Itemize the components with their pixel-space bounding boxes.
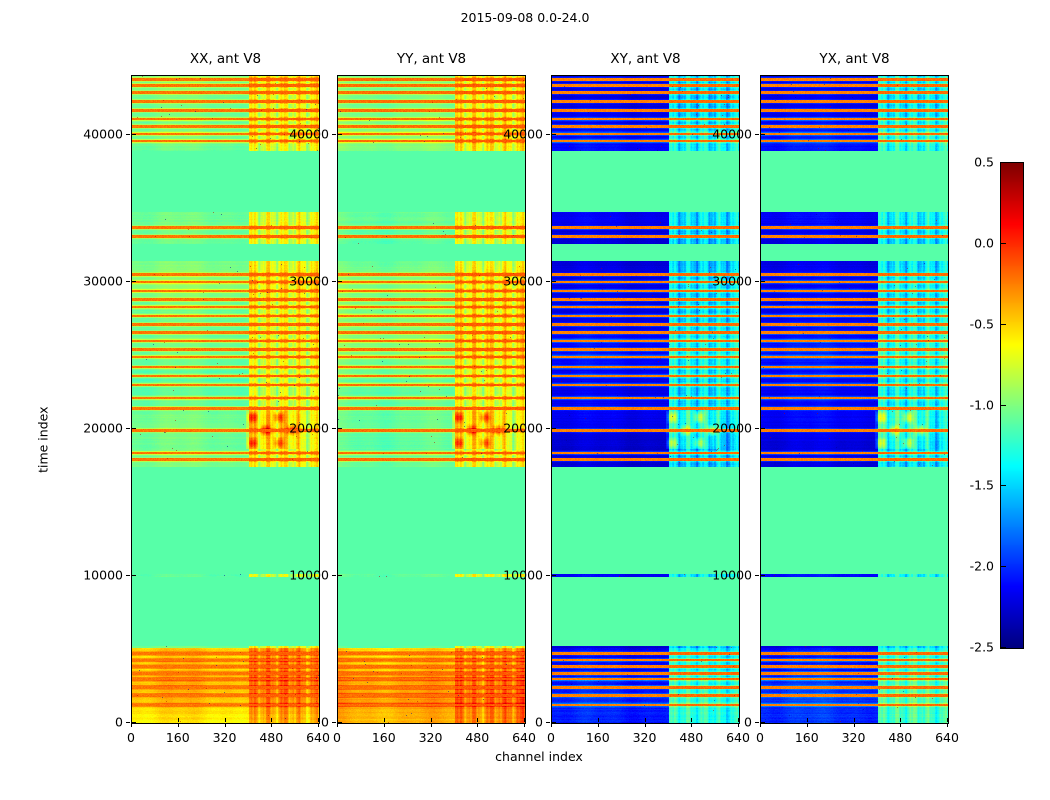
- colorbar-tick-label: -1.0: [952, 397, 994, 412]
- y-tick-label: 10000: [698, 567, 752, 582]
- y-tick-label: 0: [489, 715, 543, 730]
- colorbar-tickmark: [1001, 405, 1006, 406]
- y-tickmark-inner: [132, 575, 136, 576]
- x-axis-label: channel index: [495, 749, 583, 764]
- y-tickmark-inner: [761, 722, 765, 723]
- x-tickmark: [225, 723, 226, 727]
- colorbar-tick-label: -1.5: [952, 478, 994, 493]
- x-tickmark: [645, 723, 646, 727]
- y-tickmark-inner: [132, 281, 136, 282]
- x-tickmark-inner: [900, 718, 901, 722]
- y-tick-label: 20000: [489, 420, 543, 435]
- colorbar-tickmark: [1001, 647, 1006, 648]
- y-tick-label: 20000: [698, 420, 752, 435]
- colorbar-tickmark: [1001, 485, 1006, 486]
- x-tick-label: 320: [633, 730, 657, 745]
- x-tickmark: [271, 723, 272, 727]
- y-tickmark-inner: [132, 134, 136, 135]
- y-tick-label: 40000: [489, 126, 543, 141]
- x-tickmark-inner: [431, 718, 432, 722]
- y-tickmark-inner: [338, 428, 342, 429]
- x-tick-label: 320: [842, 730, 866, 745]
- x-tickmark: [384, 723, 385, 727]
- y-tickmark: [126, 281, 130, 282]
- y-tickmark: [126, 428, 130, 429]
- waterfall-image-yy: [338, 76, 525, 723]
- x-tick-label: 480: [888, 730, 912, 745]
- y-tickmark: [546, 281, 550, 282]
- y-tickmark: [332, 575, 336, 576]
- y-tickmark: [755, 134, 759, 135]
- x-tick-label: 160: [372, 730, 396, 745]
- y-tickmark-inner: [761, 575, 765, 576]
- y-tickmark: [755, 575, 759, 576]
- x-tickmark: [807, 723, 808, 727]
- y-tick-label: 10000: [275, 567, 329, 582]
- y-tickmark-inner: [552, 722, 556, 723]
- heatmap-panel-yx: YX, ant V8: [760, 75, 949, 724]
- y-tick-label: 40000: [275, 126, 329, 141]
- x-tick-label: 0: [547, 730, 555, 745]
- y-tick-label: 0: [698, 715, 752, 730]
- x-tick-label: 640: [306, 730, 330, 745]
- x-tick-label: 160: [795, 730, 819, 745]
- figure-suptitle: 2015-09-08 0.0-24.0: [0, 10, 1050, 25]
- x-tickmark-inner: [225, 718, 226, 722]
- colorbar-tickmark: [1001, 243, 1006, 244]
- colorbar-tick-label: -2.5: [952, 640, 994, 655]
- y-tick-label: 0: [69, 715, 123, 730]
- waterfall-image-xy: [552, 76, 739, 723]
- x-tick-label: 480: [679, 730, 703, 745]
- y-tick-label: 40000: [698, 126, 752, 141]
- y-tickmark-inner: [338, 134, 342, 135]
- y-tickmark: [332, 134, 336, 135]
- y-tick-label: 10000: [69, 567, 123, 582]
- x-tickmark-inner: [645, 718, 646, 722]
- x-tickmark: [760, 723, 761, 727]
- colorbar-tick-label: -2.0: [952, 559, 994, 574]
- panel-title-yx: YX, ant V8: [761, 51, 948, 67]
- x-tickmark: [551, 723, 552, 727]
- y-tick-label: 20000: [69, 420, 123, 435]
- y-tick-label: 30000: [698, 273, 752, 288]
- x-tickmark: [854, 723, 855, 727]
- y-tickmark: [126, 134, 130, 135]
- x-tick-label: 160: [166, 730, 190, 745]
- x-tickmark-inner: [947, 718, 948, 722]
- y-tickmark: [546, 575, 550, 576]
- y-tick-label: 10000: [489, 567, 543, 582]
- x-tickmark-inner: [598, 718, 599, 722]
- y-tickmark: [332, 428, 336, 429]
- y-tickmark: [546, 722, 550, 723]
- x-tick-label: 480: [465, 730, 489, 745]
- colorbar-gradient: [1001, 163, 1023, 648]
- y-tickmark-inner: [761, 134, 765, 135]
- y-tickmark-inner: [761, 428, 765, 429]
- colorbar-tickmark: [1001, 162, 1006, 163]
- y-tickmark-inner: [552, 281, 556, 282]
- panel-title-yy: YY, ant V8: [338, 51, 525, 67]
- x-tick-label: 0: [127, 730, 135, 745]
- colorbar-tickmark: [1001, 324, 1006, 325]
- y-tick-label: 20000: [275, 420, 329, 435]
- colorbar-tick-label: 0.0: [952, 235, 994, 250]
- y-tickmark-inner: [338, 575, 342, 576]
- x-tickmark: [598, 723, 599, 727]
- y-tick-label: 0: [275, 715, 329, 730]
- y-tickmark: [546, 134, 550, 135]
- colorbar: [1000, 162, 1024, 649]
- x-tickmark-inner: [178, 718, 179, 722]
- waterfall-image-xx: [132, 76, 319, 723]
- x-tick-label: 320: [213, 730, 237, 745]
- x-tickmark: [178, 723, 179, 727]
- y-tickmark: [126, 575, 130, 576]
- x-tickmark: [900, 723, 901, 727]
- x-tickmark: [477, 723, 478, 727]
- x-tickmark-inner: [807, 718, 808, 722]
- y-tickmark: [755, 281, 759, 282]
- y-tickmark-inner: [761, 281, 765, 282]
- colorbar-tickmark: [1001, 566, 1006, 567]
- x-tickmark-inner: [691, 718, 692, 722]
- x-tickmark-inner: [271, 718, 272, 722]
- x-tickmark-inner: [477, 718, 478, 722]
- panel-title-xy: XY, ant V8: [552, 51, 739, 67]
- x-tick-label: 640: [726, 730, 750, 745]
- x-tickmark: [431, 723, 432, 727]
- x-tick-label: 0: [756, 730, 764, 745]
- x-tickmark-inner: [854, 718, 855, 722]
- y-tickmark-inner: [338, 722, 342, 723]
- y-tickmark-inner: [132, 428, 136, 429]
- y-tickmark-inner: [338, 281, 342, 282]
- y-tick-label: 30000: [69, 273, 123, 288]
- x-tick-label: 0: [333, 730, 341, 745]
- x-tick-label: 640: [512, 730, 536, 745]
- heatmap-panel-xx: XX, ant V8: [131, 75, 320, 724]
- x-tick-label: 160: [586, 730, 610, 745]
- y-tick-label: 30000: [275, 273, 329, 288]
- colorbar-tick-label: -0.5: [952, 316, 994, 331]
- y-tickmark: [332, 281, 336, 282]
- panel-title-xx: XX, ant V8: [132, 51, 319, 67]
- x-tickmark: [947, 723, 948, 727]
- y-tick-label: 30000: [489, 273, 543, 288]
- y-tickmark-inner: [552, 575, 556, 576]
- x-tickmark: [337, 723, 338, 727]
- waterfall-image-yx: [761, 76, 948, 723]
- y-tickmark-inner: [552, 134, 556, 135]
- y-tickmark: [126, 722, 130, 723]
- x-tick-label: 320: [419, 730, 443, 745]
- colorbar-tick-label: 0.5: [952, 155, 994, 170]
- heatmap-panel-xy: XY, ant V8: [551, 75, 740, 724]
- y-axis-label: time index: [36, 406, 51, 472]
- x-tickmark-inner: [384, 718, 385, 722]
- y-tickmark-inner: [552, 428, 556, 429]
- x-tickmark: [131, 723, 132, 727]
- y-tick-label: 40000: [69, 126, 123, 141]
- x-tick-label: 640: [935, 730, 959, 745]
- y-tickmark: [755, 428, 759, 429]
- x-tickmark: [691, 723, 692, 727]
- heatmap-panel-yy: YY, ant V8: [337, 75, 526, 724]
- y-tickmark: [332, 722, 336, 723]
- figure-canvas: 2015-09-08 0.0-24.0 XX, ant V80160320480…: [0, 0, 1050, 800]
- y-tickmark: [755, 722, 759, 723]
- y-tickmark: [546, 428, 550, 429]
- y-tickmark-inner: [132, 722, 136, 723]
- x-tick-label: 480: [259, 730, 283, 745]
